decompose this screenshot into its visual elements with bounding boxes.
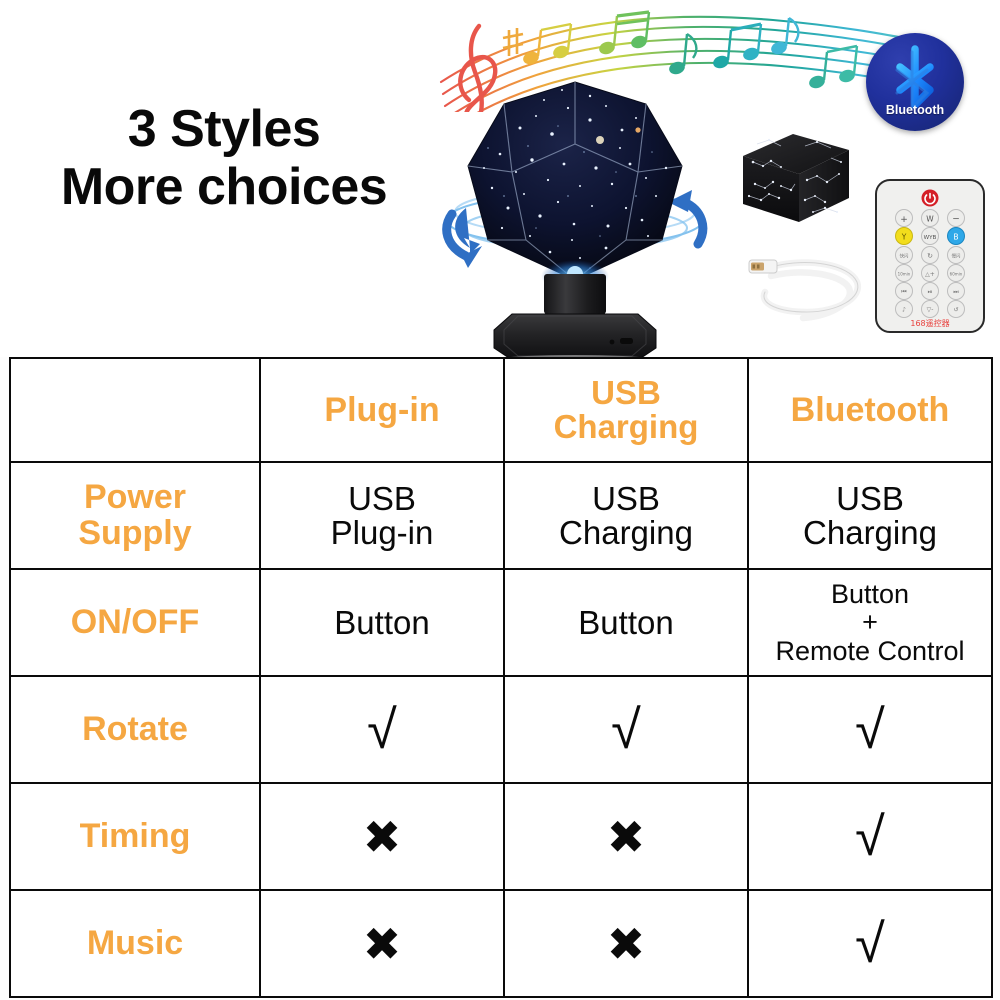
usb-charging-cable xyxy=(745,250,870,330)
table-corner-cell xyxy=(10,358,260,462)
infographic-page: 3 Styles More choices xyxy=(0,0,1000,1000)
row-label-timing: Timing xyxy=(10,783,260,890)
column-header-bluetooth: Bluetooth xyxy=(748,358,992,462)
remote-control-graphic: + W − Y WYB B xyxy=(874,178,986,334)
svg-text:W: W xyxy=(926,215,934,224)
cell-line: Plug-in xyxy=(265,516,499,550)
constellation-gift-box xyxy=(735,128,855,233)
row-label-power-supply: Power Supply xyxy=(10,462,260,569)
cell-music-bluetooth: √ xyxy=(748,890,992,997)
cell-timing-plug-in: ✖ xyxy=(260,783,504,890)
remote-model-label: 168遥控器 xyxy=(910,318,949,328)
svg-text:B: B xyxy=(953,233,958,242)
column-header-usb-charging: USB Charging xyxy=(504,358,748,462)
cell-timing-bluetooth: √ xyxy=(748,783,992,890)
cell-line: Remote Control xyxy=(753,637,987,666)
table-header-row: Plug-in USB Charging Bluetooth xyxy=(10,358,992,462)
row-label-on-off: ON/OFF xyxy=(10,569,260,676)
svg-text:▽-: ▽- xyxy=(927,307,934,314)
svg-text:慢闪: 慢闪 xyxy=(952,253,961,260)
cell-music-usb-charging: ✖ xyxy=(504,890,748,997)
table-row-rotate: Rotate √ √ √ xyxy=(10,676,992,783)
svg-text:+: + xyxy=(900,215,908,225)
row-label-music: Music xyxy=(10,890,260,997)
svg-text:快闪: 快闪 xyxy=(900,253,909,260)
row-label-rotate: Rotate xyxy=(10,676,260,783)
svg-text:↺: ↺ xyxy=(953,307,958,314)
cell-timing-usb-charging: ✖ xyxy=(504,783,748,890)
cell-rotate-plug-in: √ xyxy=(260,676,504,783)
table-row-on-off: ON/OFF Button Button Button + Remote Con… xyxy=(10,569,992,676)
comparison-table: Plug-in USB Charging Bluetooth Power Sup… xyxy=(9,357,993,998)
cell-on-off-usb-charging: Button xyxy=(504,569,748,676)
headline-line-2: More choices xyxy=(14,158,434,216)
svg-text:⏮: ⏮ xyxy=(901,289,907,296)
cell-rotate-bluetooth: √ xyxy=(748,676,992,783)
cell-on-off-plug-in: Button xyxy=(260,569,504,676)
cell-line: USB xyxy=(509,482,743,516)
cell-line: Charging xyxy=(753,516,987,550)
column-header-usb-charging-line2: Charging xyxy=(509,410,743,444)
row-label-power-supply-line1: Power xyxy=(15,480,255,515)
svg-text:△+: △+ xyxy=(925,271,935,278)
column-header-plug-in: Plug-in xyxy=(260,358,504,462)
row-label-power-supply-line2: Supply xyxy=(15,516,255,551)
cell-line: Charging xyxy=(509,516,743,550)
svg-text:♪: ♪ xyxy=(902,307,906,314)
cell-line: USB xyxy=(753,482,987,516)
cell-power-supply-usb-charging: USB Charging xyxy=(504,462,748,569)
svg-text:WYB: WYB xyxy=(924,235,937,241)
headline-block: 3 Styles More choices xyxy=(14,100,434,216)
bluetooth-badge-label: Bluetooth xyxy=(866,103,964,117)
svg-text:⏯: ⏯ xyxy=(928,289,933,296)
svg-text:10min: 10min xyxy=(898,271,911,276)
table-row-timing: Timing ✖ ✖ √ xyxy=(10,783,992,890)
svg-text:Y: Y xyxy=(901,233,907,242)
svg-text:⏭: ⏭ xyxy=(953,289,959,296)
cell-line: + xyxy=(753,608,987,637)
cell-music-plug-in: ✖ xyxy=(260,890,504,997)
bluetooth-badge: Bluetooth xyxy=(866,33,964,131)
svg-text:−: − xyxy=(952,215,960,225)
table-row-music: Music ✖ ✖ √ xyxy=(10,890,992,997)
cell-on-off-bluetooth: Button + Remote Control xyxy=(748,569,992,676)
cell-line: USB xyxy=(265,482,499,516)
cell-rotate-usb-charging: √ xyxy=(504,676,748,783)
svg-text:↻: ↻ xyxy=(927,252,933,260)
headline-line-1: 3 Styles xyxy=(14,100,434,158)
column-header-usb-charging-line1: USB xyxy=(509,376,743,410)
cell-power-supply-plug-in: USB Plug-in xyxy=(260,462,504,569)
cell-power-supply-bluetooth: USB Charging xyxy=(748,462,992,569)
svg-text:60min: 60min xyxy=(950,271,963,276)
star-projector-lamp xyxy=(440,68,710,357)
table-row-power-supply: Power Supply USB Plug-in USB Charging US… xyxy=(10,462,992,569)
hero-section: 3 Styles More choices xyxy=(0,0,1000,357)
cell-line: Button xyxy=(753,580,987,609)
